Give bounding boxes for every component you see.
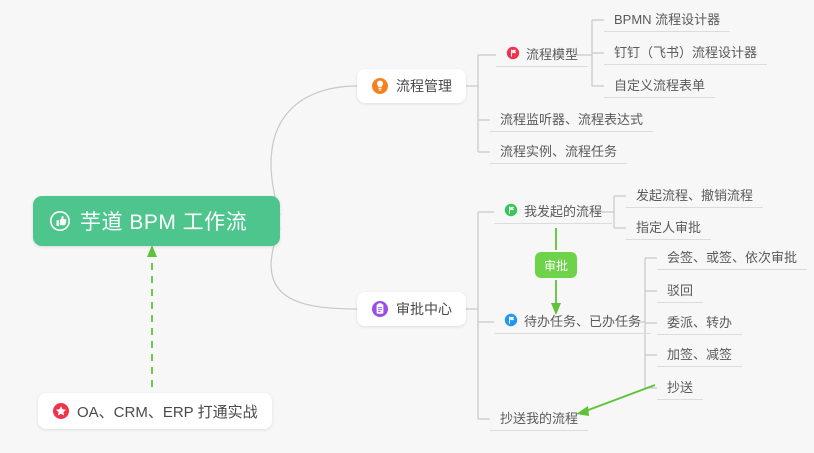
node-label: 流程模型 — [526, 44, 578, 63]
node-cc-to-me[interactable]: 抄送我的流程 — [490, 407, 588, 431]
clipboard-purple-icon — [371, 300, 389, 318]
node-my-initiated[interactable]: 我发起的流程 — [494, 200, 612, 224]
lightbulb-icon — [371, 77, 389, 95]
node-assignee-approval[interactable]: 指定人审批 — [626, 216, 711, 240]
flag-circle-green-icon — [504, 203, 518, 217]
approval-chip[interactable]: 审批 — [535, 252, 577, 278]
mindmap-canvas: 芋道 BPM 工作流 流程管理 流程模型 BPMN 流程设计器 钉钉（飞书）流程… — [0, 0, 814, 453]
node-bpmn-designer[interactable]: BPMN 流程设计器 — [604, 8, 730, 32]
node-label: 流程监听器、流程表达式 — [500, 109, 643, 128]
node-listener-expression[interactable]: 流程监听器、流程表达式 — [490, 108, 653, 132]
footnote-node[interactable]: OA、CRM、ERP 打通实战 — [38, 393, 272, 429]
node-label: 流程实例、流程任务 — [500, 141, 617, 160]
node-label: 钉钉（飞书）流程设计器 — [614, 42, 757, 61]
link-root-approval-center — [271, 228, 357, 309]
link-root-process-management — [271, 86, 357, 215]
node-process-model[interactable]: 流程模型 — [496, 43, 588, 67]
node-label: 我发起的流程 — [524, 201, 602, 220]
node-label: 加签、减签 — [667, 344, 732, 363]
node-cc[interactable]: 抄送 — [657, 376, 703, 400]
node-label: 待办任务、已办任务 — [524, 311, 641, 330]
node-label: 会签、或签、依次审批 — [667, 247, 797, 266]
branch-label: 流程管理 — [396, 76, 452, 96]
chip-label: 审批 — [544, 257, 568, 274]
node-label: 抄送我的流程 — [500, 408, 578, 427]
node-todo-done-tasks[interactable]: 待办任务、已办任务 — [494, 310, 651, 334]
flag-circle-blue-icon — [504, 313, 518, 327]
branch-process-management[interactable]: 流程管理 — [357, 69, 466, 103]
node-label: 委派、转办 — [667, 312, 732, 331]
node-label: 抄送 — [667, 377, 693, 396]
flag-circle-red-icon — [506, 46, 520, 60]
node-label: 指定人审批 — [636, 217, 701, 236]
node-label: 自定义流程表单 — [614, 75, 705, 94]
node-custom-process-form[interactable]: 自定义流程表单 — [604, 74, 715, 98]
node-delegate-transfer[interactable]: 委派、转办 — [657, 311, 742, 335]
node-label: BPMN 流程设计器 — [614, 9, 720, 28]
arrowhead-footnote-to-root — [147, 245, 157, 257]
branch-label: 审批中心 — [396, 299, 452, 319]
footnote-label: OA、CRM、ERP 打通实战 — [77, 401, 258, 422]
root-label: 芋道 BPM 工作流 — [80, 206, 247, 236]
root-node[interactable]: 芋道 BPM 工作流 — [33, 196, 280, 246]
arrow-cc-to-ccme — [583, 385, 655, 412]
branch-approval-center[interactable]: 审批中心 — [357, 292, 466, 326]
node-label: 发起流程、撤销流程 — [636, 185, 753, 204]
node-label: 驳回 — [667, 280, 693, 299]
star-circle-red-icon — [52, 402, 70, 420]
node-reject[interactable]: 驳回 — [657, 279, 703, 303]
node-instance-task[interactable]: 流程实例、流程任务 — [490, 140, 627, 164]
node-dingtalk-feishu-designer[interactable]: 钉钉（飞书）流程设计器 — [604, 41, 767, 65]
node-countersign[interactable]: 会签、或签、依次审批 — [657, 246, 807, 270]
thumbs-up-icon — [49, 210, 71, 232]
node-add-remove-sign[interactable]: 加签、减签 — [657, 343, 742, 367]
node-start-cancel[interactable]: 发起流程、撤销流程 — [626, 184, 763, 208]
